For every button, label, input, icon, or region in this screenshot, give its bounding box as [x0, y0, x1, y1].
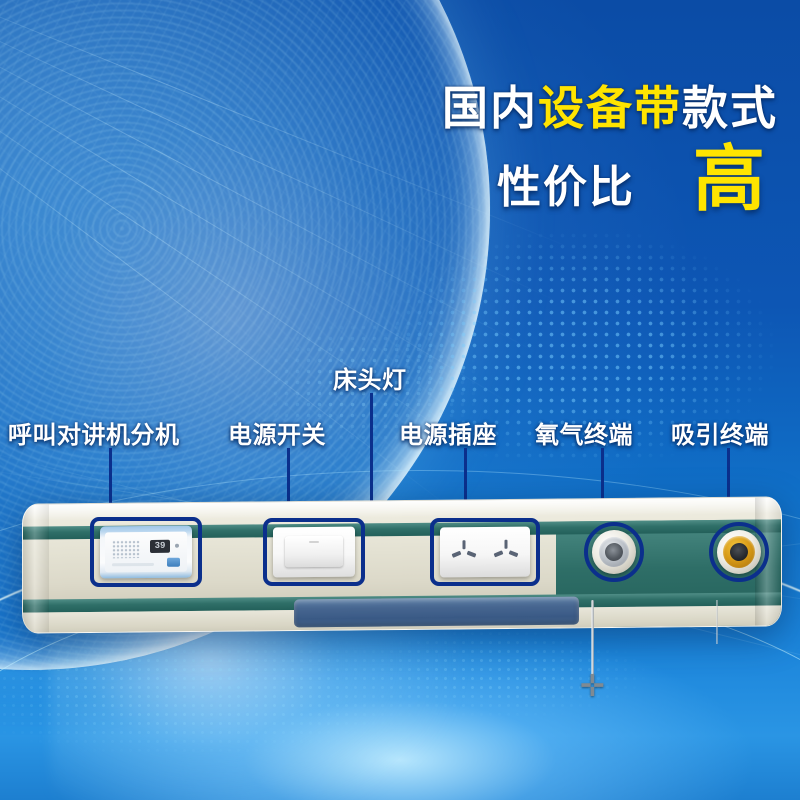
highlight-ellipse-oxygen [584, 522, 644, 582]
headline-seg-3: 款式 [682, 82, 778, 134]
bed-light-diffuser-icon[interactable] [294, 597, 579, 628]
highlight-box-intercom [90, 517, 202, 587]
headline-line-1: 国内设备带款式 [442, 84, 778, 132]
callout-power-socket: 电源插座 [399, 415, 497, 450]
highlight-box-power-switch [263, 518, 365, 586]
headline-block: 国内设备带款式 性价比 高 [442, 84, 778, 215]
panel-end-cap-left [23, 504, 49, 632]
callout-suction-terminal: 吸引终端 [671, 415, 769, 450]
oxygen-hose-connector: ✛ [578, 672, 607, 701]
headline-subtext: 性价比 [497, 151, 635, 215]
highlight-box-power-socket [430, 518, 540, 586]
headline-seg-2-accent: 设备带 [538, 82, 682, 134]
oxygen-hose-cord [591, 600, 594, 678]
callout-power-switch: 电源开关 [228, 415, 326, 450]
highlight-ellipse-suction [709, 522, 769, 582]
headline-line-2: 性价比 高 [442, 146, 778, 214]
headline-seg-1: 国内 [442, 82, 538, 134]
suction-hose-cord [716, 600, 718, 644]
callout-bed-light: 床头灯 [333, 360, 407, 395]
promo-banner: 国内设备带款式 性价比 高 呼叫对讲机分机 电源开关 床头灯 电源插座 氧气终端… [0, 0, 800, 800]
medical-bed-head-panel: 39 [22, 500, 782, 630]
callout-intercom: 呼叫对讲机分机 [8, 415, 180, 450]
headline-emphasis: 高 [693, 146, 766, 214]
callout-oxygen-terminal: 氧气终端 [535, 415, 633, 450]
